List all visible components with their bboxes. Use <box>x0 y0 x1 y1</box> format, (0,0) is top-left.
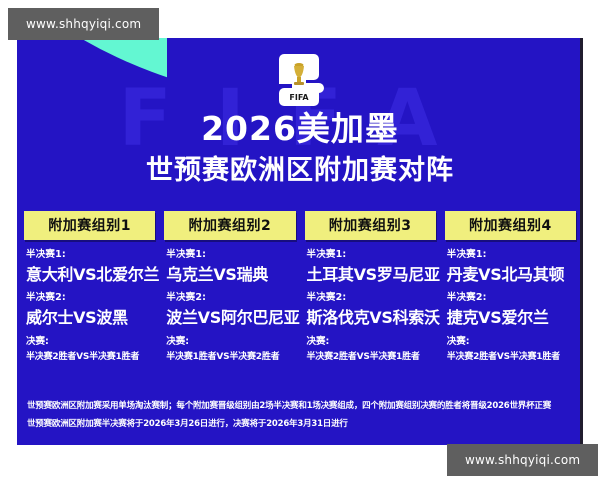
group-1-final-teams: 半决赛2胜者VS半决赛1胜者 <box>26 349 153 362</box>
group-4-final-teams: 半决赛2胜者VS半决赛1胜者 <box>447 349 574 362</box>
watermark-top: www.shhqyiqi.com <box>8 8 159 40</box>
svg-text:FIFA: FIFA <box>289 93 309 102</box>
group-2-semifinal2-label: 半决赛2: <box>166 289 293 303</box>
group-2-final-teams: 半决赛1胜者VS半决赛2胜者 <box>166 349 293 362</box>
group-3-semifinal2-teams: 斯洛伐克VS科索沃 <box>307 304 434 328</box>
playoff-group-column-2: 附加赛组别2 半决赛1: 乌克兰VS瑞典 半决赛2: 波兰VS阿尔巴尼亚 决赛:… <box>161 211 298 366</box>
group-1-semifinal1-label: 半决赛1: <box>26 246 153 260</box>
playoff-group-column-1: 附加赛组别1 半决赛1: 意大利VS北爱尔兰 半决赛2: 威尔士VS波黑 决赛:… <box>21 211 158 366</box>
group-3-final-label: 决赛: <box>307 333 434 347</box>
mint-corner-decoration <box>17 38 167 116</box>
group-4-semifinal1-teams: 丹麦VS北马其顿 <box>447 261 574 285</box>
playoff-group-column-3: 附加赛组别3 半决赛1: 土耳其VS罗马尼亚 半决赛2: 斯洛伐克VS科索沃 决… <box>302 211 439 366</box>
group-1-semifinal2-label: 半决赛2: <box>26 289 153 303</box>
playoff-groups-container: 附加赛组别1 半决赛1: 意大利VS北爱尔兰 半决赛2: 威尔士VS波黑 决赛:… <box>21 211 579 366</box>
group-header-3: 附加赛组别3 <box>305 211 436 240</box>
group-1-semifinal1-teams: 意大利VS北爱尔兰 <box>26 261 153 285</box>
group-4-semifinal2-label: 半决赛2: <box>447 289 574 303</box>
group-2-semifinal1-teams: 乌克兰VS瑞典 <box>166 261 293 285</box>
group-4-matches: 半决赛1: 丹麦VS北马其顿 半决赛2: 捷克VS爱尔兰 决赛: 半决赛2胜者V… <box>442 246 579 362</box>
group-2-matches: 半决赛1: 乌克兰VS瑞典 半决赛2: 波兰VS阿尔巴尼亚 决赛: 半决赛1胜者… <box>161 246 298 362</box>
group-4-final-label: 决赛: <box>447 333 574 347</box>
poster-title-sub: 世预赛欧洲区附加赛对阵 <box>17 153 583 188</box>
group-3-semifinal2-label: 半决赛2: <box>307 289 434 303</box>
playoff-bracket-poster: FIFA FIFA 2026美加墨 世预赛欧洲区附加赛对阵 附加赛组别1 半决赛… <box>17 38 583 445</box>
group-4-semifinal1-label: 半决赛1: <box>447 246 574 260</box>
group-header-1: 附加赛组别1 <box>24 211 155 240</box>
group-2-semifinal2-teams: 波兰VS阿尔巴尼亚 <box>166 304 293 328</box>
group-1-matches: 半决赛1: 意大利VS北爱尔兰 半决赛2: 威尔士VS波黑 决赛: 半决赛2胜者… <box>21 246 158 362</box>
footer-note-format: 世预赛欧洲区附加赛采用单场淘汰赛制；每个附加赛晋级组别由2场半决赛和1场决赛组成… <box>21 396 579 414</box>
group-3-matches: 半决赛1: 土耳其VS罗马尼亚 半决赛2: 斯洛伐克VS科索沃 决赛: 半决赛2… <box>302 246 439 362</box>
watermark-bottom: www.shhqyiqi.com <box>447 444 598 476</box>
group-3-semifinal1-teams: 土耳其VS罗马尼亚 <box>307 261 434 285</box>
playoff-group-column-4: 附加赛组别4 半决赛1: 丹麦VS北马其顿 半决赛2: 捷克VS爱尔兰 决赛: … <box>442 211 579 366</box>
group-3-semifinal1-label: 半决赛1: <box>307 246 434 260</box>
poster-title-main: 2026美加墨 <box>17 110 583 148</box>
group-header-4: 附加赛组别4 <box>445 211 576 240</box>
group-1-final-label: 决赛: <box>26 333 153 347</box>
group-3-final-teams: 半决赛2胜者VS半决赛1胜者 <box>307 349 434 362</box>
group-4-semifinal2-teams: 捷克VS爱尔兰 <box>447 304 574 328</box>
group-header-2: 附加赛组别2 <box>164 211 295 240</box>
footer-notes: 世预赛欧洲区附加赛采用单场淘汰赛制；每个附加赛晋级组别由2场半决赛和1场决赛组成… <box>21 396 579 432</box>
group-1-semifinal2-teams: 威尔士VS波黑 <box>26 304 153 328</box>
poster-title-block: 2026美加墨 世预赛欧洲区附加赛对阵 <box>17 110 583 188</box>
group-2-final-label: 决赛: <box>166 333 293 347</box>
footer-note-dates: 世预赛欧洲区附加赛半决赛将于2026年3月26日进行，决赛将于2026年3月31… <box>21 414 579 432</box>
group-2-semifinal1-label: 半决赛1: <box>166 246 293 260</box>
fifa-26-logo-icon: FIFA <box>272 50 326 110</box>
